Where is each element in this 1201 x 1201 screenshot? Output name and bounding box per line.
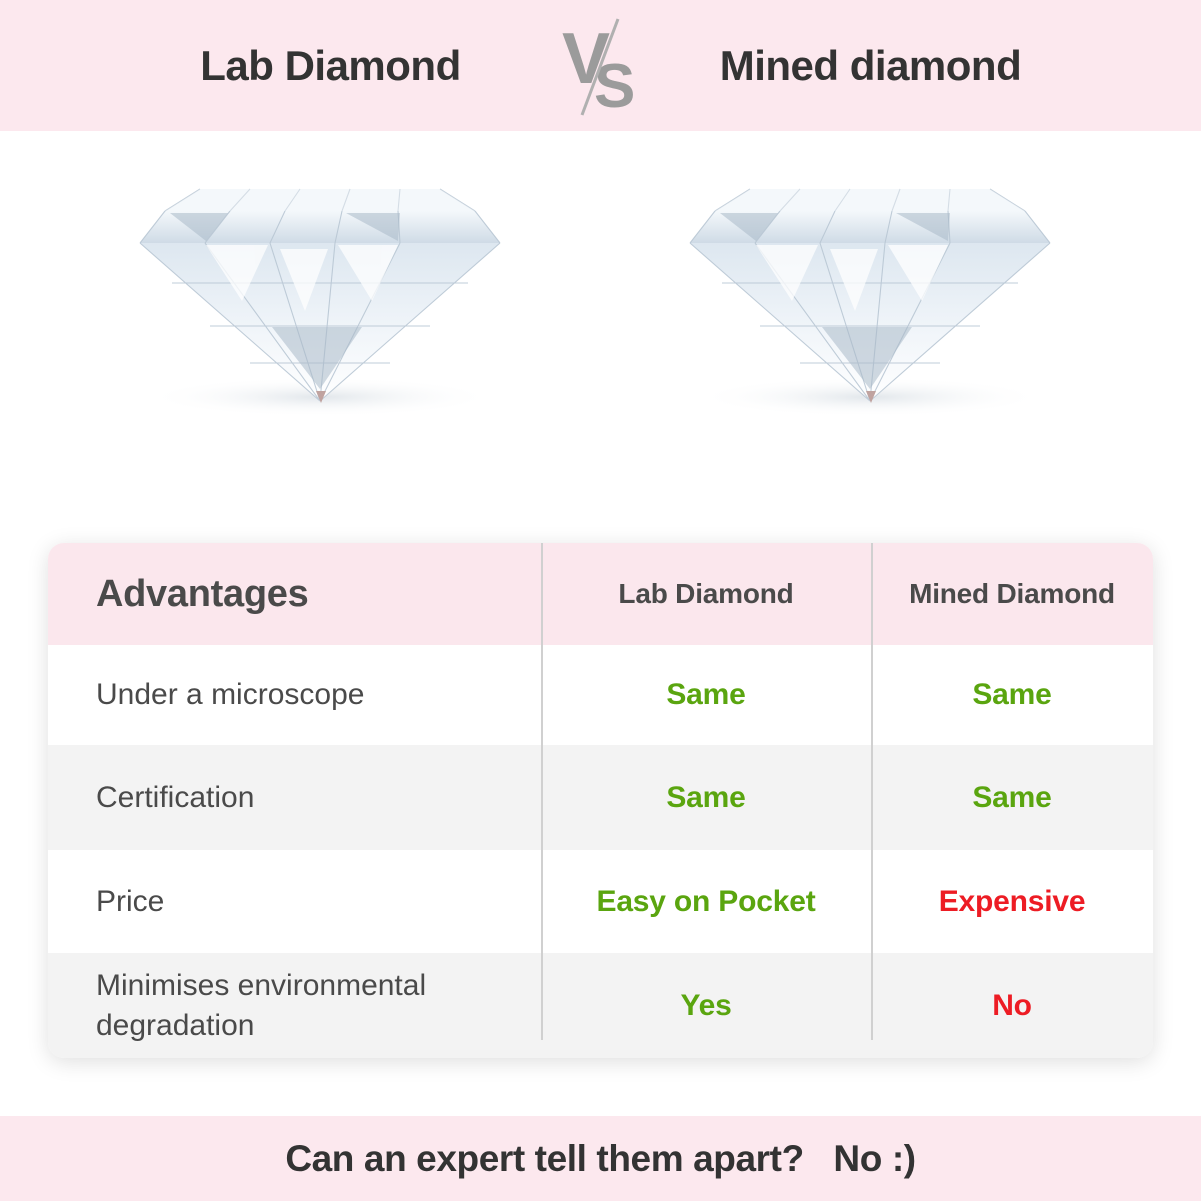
footer-question: Can an expert tell them apart? No :) [285, 1138, 915, 1180]
row-value-mined: Expensive [871, 885, 1153, 919]
vs-icon: V S [546, 11, 656, 121]
row-value-mined: No [871, 989, 1153, 1023]
table-header-row: Advantages Lab Diamond Mined Diamond [48, 543, 1153, 645]
row-label: Certification [48, 778, 541, 818]
row-value-lab: Yes [541, 989, 871, 1023]
page-title-mined: Mined diamond [656, 42, 1086, 90]
page-title-lab: Lab Diamond [116, 42, 546, 90]
column-header-advantages: Advantages [48, 573, 541, 616]
table-row: Under a microscope Same Same [48, 645, 1153, 745]
comparison-table-card: Advantages Lab Diamond Mined Diamond Und… [48, 543, 1153, 1058]
lab-diamond-image [110, 151, 530, 481]
row-label: Price [48, 882, 541, 922]
column-divider-1 [541, 543, 543, 1040]
row-value-lab: Same [541, 781, 871, 815]
column-header-lab: Lab Diamond [541, 578, 871, 610]
column-header-mined: Mined Diamond [871, 578, 1153, 610]
row-label: Minimises environmental degradation [48, 966, 541, 1045]
table-row: Certification Same Same [48, 745, 1153, 850]
row-value-lab: Same [541, 678, 871, 712]
row-label: Under a microscope [48, 675, 541, 715]
table-row: Price Easy on Pocket Expensive [48, 850, 1153, 953]
column-divider-2 [871, 543, 873, 1040]
diamond-image-stage [0, 131, 1201, 531]
row-value-mined: Same [871, 781, 1153, 815]
row-value-mined: Same [871, 678, 1153, 712]
header-band: Lab Diamond V S Mined diamond [0, 0, 1201, 131]
row-value-lab: Easy on Pocket [541, 885, 871, 919]
mined-diamond-image [660, 151, 1080, 481]
table-row: Minimises environmental degradation Yes … [48, 953, 1153, 1058]
footer-band: Can an expert tell them apart? No :) [0, 1116, 1201, 1201]
